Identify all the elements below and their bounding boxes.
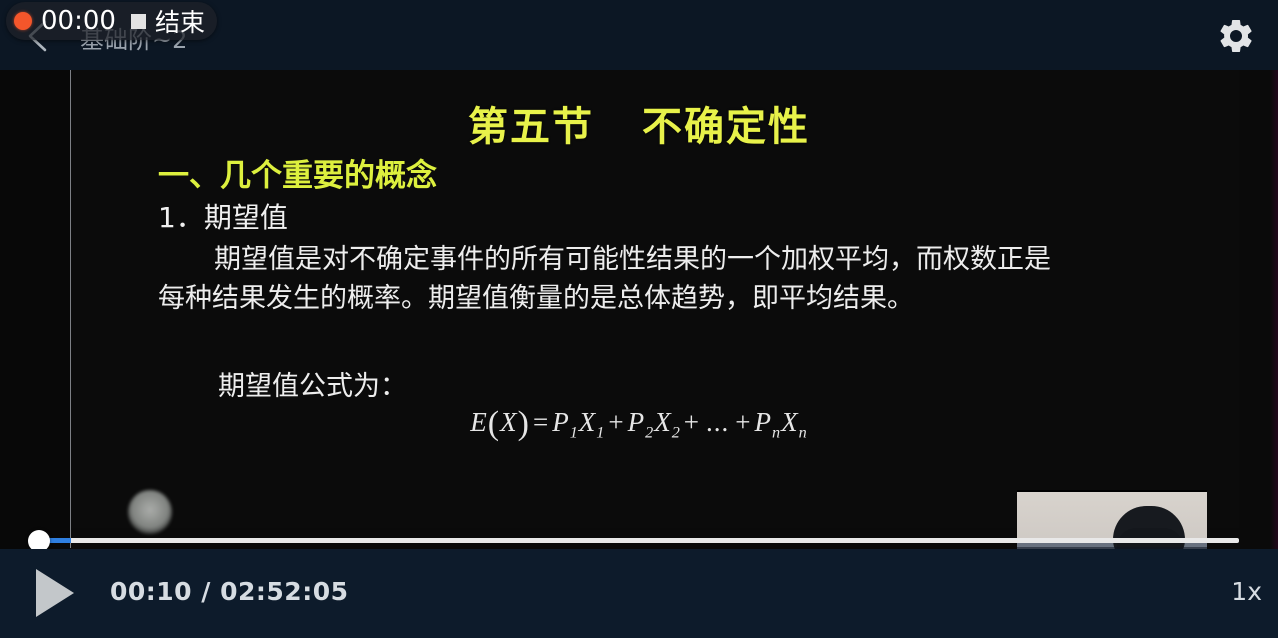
play-button[interactable] — [32, 567, 78, 619]
slide-title: 第五节不确定性 — [0, 94, 1278, 152]
formula-termn-var: X — [781, 407, 799, 437]
slide-heading: 一、几个重要的概念 — [158, 150, 437, 195]
slide-formula-lead: 期望值公式为： — [158, 364, 407, 403]
formula-plus-2: + — [681, 407, 703, 437]
formula-termn-coef: P — [755, 407, 773, 437]
formula-paren-open: ( — [488, 405, 500, 442]
slide-subheading: 1．期望值 — [158, 196, 288, 236]
formula-term2-coef-sub: 2 — [645, 423, 654, 441]
formula-ellipsis: ... — [703, 407, 732, 437]
formula-termn-var-sub: n — [799, 423, 808, 441]
formula-fn: E — [470, 407, 488, 437]
formula-paren-close: ) — [518, 405, 530, 442]
slide-paragraph: 期望值是对不确定事件的所有可能性结果的一个加权平均，而权数正是每种结果发生的概率… — [158, 240, 1058, 318]
stop-square-icon[interactable] — [131, 14, 146, 29]
formula-term2-coef: P — [628, 407, 646, 437]
touch-ripple-indicator — [128, 490, 172, 534]
slide-formula: E(X)=P1X1+P2X2+...+PnXn — [0, 405, 1278, 443]
formula-termn-coef-sub: n — [772, 423, 781, 441]
formula-fn-arg: X — [500, 407, 518, 437]
recording-elapsed-time: 00:00 — [41, 6, 116, 36]
bottom-control-bar: 00:10 / 02:52:05 1x — [0, 549, 1278, 638]
record-dot-icon — [14, 12, 32, 30]
gear-icon — [1216, 16, 1256, 56]
formula-term1-var: X — [579, 407, 597, 437]
playback-speed-button[interactable]: 1x — [1231, 577, 1262, 606]
screen-recorder-overlay[interactable]: 00:00 结束 — [6, 2, 217, 40]
formula-term1-var-sub: 1 — [596, 423, 605, 441]
formula-term1-coef-sub: 1 — [570, 423, 579, 441]
progress-bar[interactable] — [0, 536, 1278, 544]
formula-term1-coef: P — [552, 407, 570, 437]
slide-title-left: 第五节 — [468, 104, 594, 150]
slide-title-right: 不确定性 — [642, 104, 810, 150]
formula-equals: = — [530, 407, 552, 437]
formula-term2-var: X — [654, 407, 672, 437]
stop-recording-label[interactable]: 结束 — [155, 3, 205, 39]
formula-plus-3: + — [732, 407, 754, 437]
video-player-screen: 第五节不确定性 一、几个重要的概念 1．期望值 期望值是对不确定事件的所有可能性… — [0, 0, 1278, 638]
settings-button[interactable] — [1216, 16, 1256, 56]
time-display: 00:10 / 02:52:05 — [110, 577, 348, 606]
formula-plus-1: + — [605, 407, 627, 437]
progress-track[interactable] — [39, 538, 1239, 543]
play-icon — [32, 567, 78, 619]
formula-term2-var-sub: 2 — [672, 423, 681, 441]
